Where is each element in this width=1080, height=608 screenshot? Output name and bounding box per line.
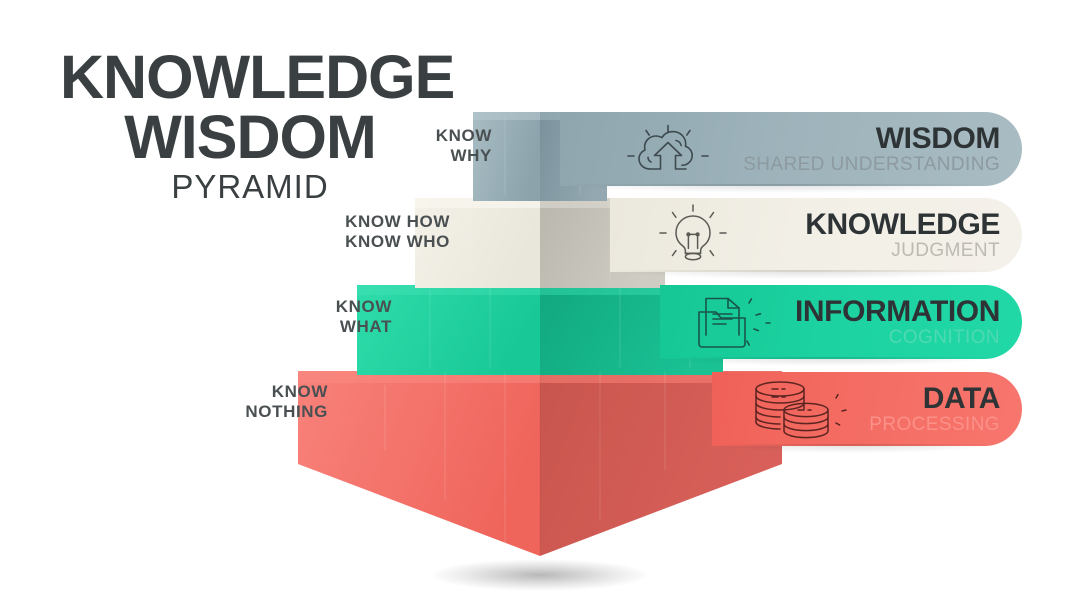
level-band-information[interactable]: INFORMATION COGNITION	[660, 285, 1022, 359]
step-label-line-1: KNOW HOW	[345, 212, 450, 231]
step-label-line-2: WHY	[312, 146, 492, 166]
step-label-line-2: KNOW WHO	[230, 232, 450, 252]
band-title: WISDOM	[743, 124, 1000, 155]
step-label-line-1: KNOW	[336, 297, 392, 316]
level-band-knowledge[interactable]: KNOWLEDGE JUDGMENT	[610, 198, 1022, 272]
folder-document-icon	[686, 293, 782, 358]
step-label-know-why: KNOW WHY	[312, 126, 492, 167]
step-label-know-how-who: KNOW HOW KNOW WHO	[230, 212, 450, 253]
band-title: INFORMATION	[795, 297, 1000, 328]
database-stack-icon	[748, 378, 858, 447]
band-title: KNOWLEDGE	[805, 210, 1000, 241]
level-band-data[interactable]: DATA PROCESSING	[712, 372, 1022, 446]
band-text-wisdom: WISDOM SHARED UNDERSTANDING	[743, 124, 1000, 175]
title-line-1: KNOWLEDGE	[60, 48, 440, 108]
band-subtitle: SHARED UNDERSTANDING	[743, 155, 1000, 174]
infographic-canvas: KNOWLEDGE WISDOM PYRAMID	[0, 0, 1080, 608]
band-text-data: DATA PROCESSING	[869, 384, 1000, 435]
pyramid-level-data	[298, 371, 782, 556]
band-subtitle: JUDGMENT	[805, 241, 1000, 260]
band-text-knowledge: KNOWLEDGE JUDGMENT	[805, 210, 1000, 261]
band-text-information: INFORMATION COGNITION	[795, 297, 1000, 348]
band-subtitle: COGNITION	[795, 328, 1000, 347]
lightbulb-icon	[650, 204, 736, 271]
step-label-line-2: WHAT	[192, 317, 392, 337]
band-title: DATA	[869, 384, 1000, 415]
step-label-line-1: KNOW	[436, 126, 492, 145]
title-subtitle: PYRAMID	[60, 170, 440, 205]
step-label-line-1: KNOW	[272, 382, 328, 401]
step-label-line-2: NOTHING	[108, 402, 328, 422]
step-label-know-what: KNOW WHAT	[192, 297, 392, 338]
band-subtitle: PROCESSING	[869, 415, 1000, 434]
step-label-know-nothing: KNOW NOTHING	[108, 382, 328, 423]
level-band-wisdom[interactable]: WISDOM SHARED UNDERSTANDING	[560, 112, 1022, 186]
brain-cloud-arrow-up-icon	[620, 122, 716, 183]
